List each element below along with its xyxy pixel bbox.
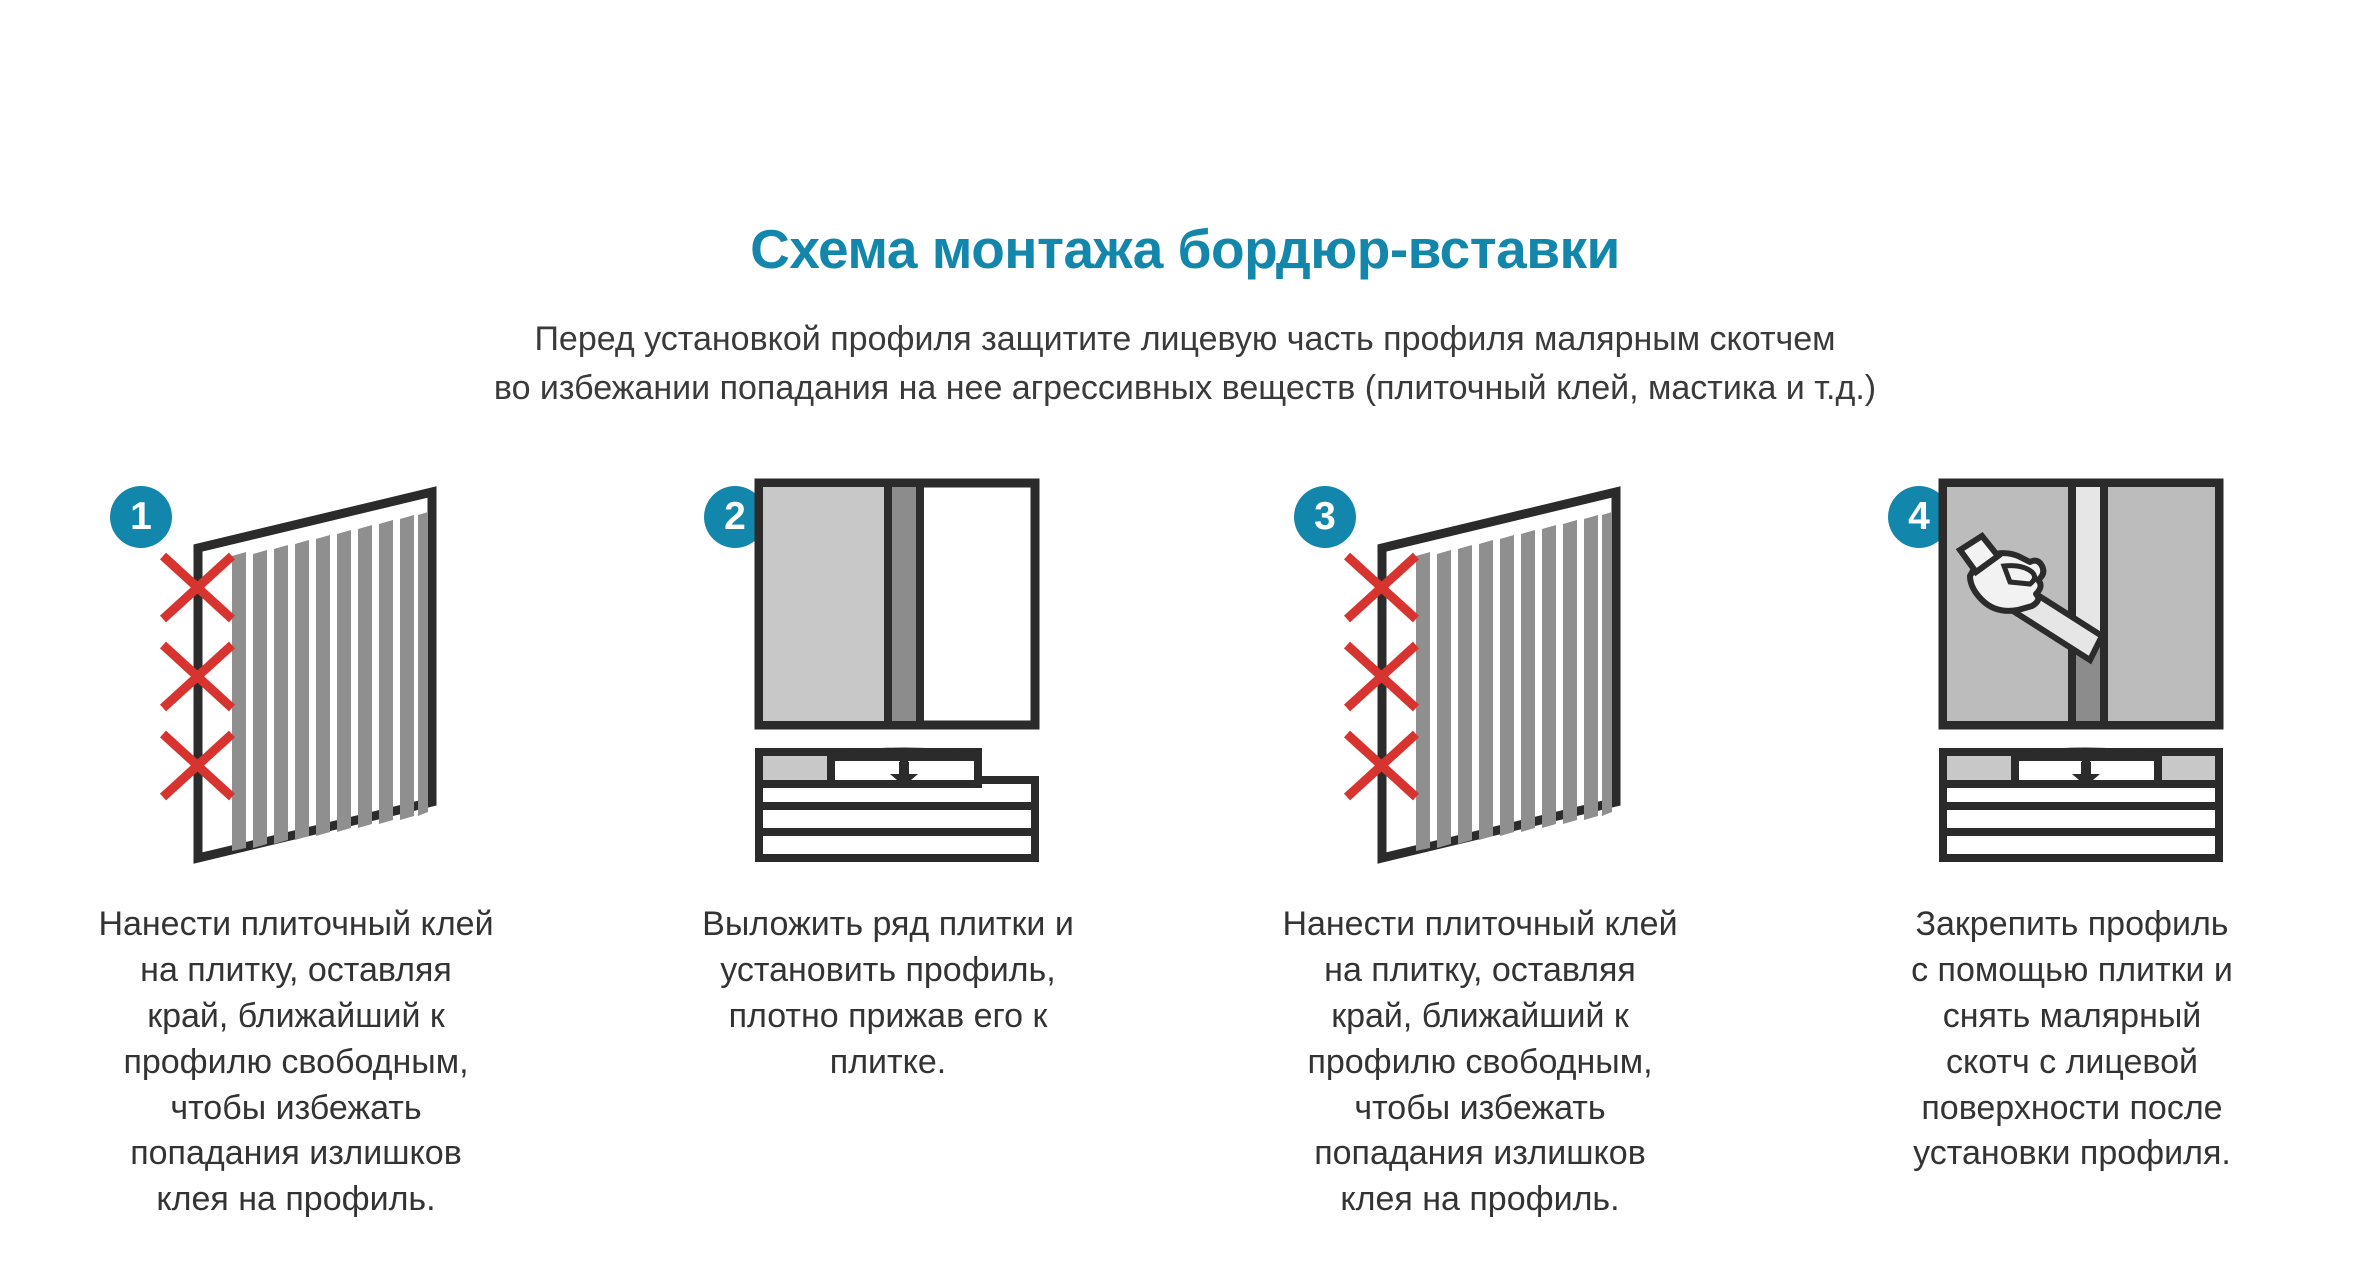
step-3: 3: [1184, 470, 1776, 1223]
caption-line: установить профиль,: [653, 948, 1123, 994]
caption-line: чтобы избежать: [1245, 1086, 1715, 1132]
steps-row: 1: [0, 470, 2370, 1223]
page-subtitle: Перед установкой профиля защитите лицеву…: [305, 277, 2065, 414]
caption-line: попадания излишков: [61, 1131, 531, 1177]
step-3-illustration-area: 3: [1184, 470, 1776, 890]
step-4-illustration-area: 4: [1776, 470, 2368, 890]
caption-line: поверхности после: [1847, 1086, 2297, 1132]
caption-line: попадания излишков: [1245, 1131, 1715, 1177]
step-2: 2: [592, 470, 1184, 1086]
subtitle-line-1: Перед установкой профиля защитите лицеву…: [305, 315, 2065, 364]
caption-line: установки профиля.: [1847, 1131, 2297, 1177]
step-1: 1: [0, 470, 592, 1223]
page-title: Схема монтажа бордюр-вставки: [0, 0, 2370, 277]
caption-line: на плитку, оставляя: [61, 948, 531, 994]
hand-peeling-tape-illustration: [1926, 470, 2256, 870]
step-1-caption: Нанести плиточный клей на плитку, оставл…: [61, 902, 531, 1223]
installation-scheme-page: Схема монтажа бордюр-вставки Перед устан…: [0, 0, 2370, 1265]
step-1-illustration-area: 1: [0, 470, 592, 890]
tile-row-profile-illustration: [742, 470, 1072, 870]
caption-line: чтобы избежать: [61, 1086, 531, 1132]
caption-line: с помощью плитки и: [1847, 948, 2297, 994]
caption-line: профилю свободным,: [61, 1040, 531, 1086]
step-3-caption: Нанести плиточный клей на плитку, оставл…: [1245, 902, 1715, 1223]
caption-line: Нанести плиточный клей: [1245, 902, 1715, 948]
caption-line: Нанести плиточный клей: [61, 902, 531, 948]
step-2-illustration-area: 2: [592, 470, 1184, 890]
caption-line: Закрепить профиль: [1847, 902, 2297, 948]
tile-adhesive-illustration: [1334, 470, 1664, 870]
caption-line: плотно прижав его к: [653, 994, 1123, 1040]
caption-line: край, ближайший к: [61, 994, 531, 1040]
step-2-caption: Выложить ряд плитки и установить профиль…: [653, 902, 1123, 1086]
tile-adhesive-illustration: [150, 470, 480, 870]
caption-line: снять малярный: [1847, 994, 2297, 1040]
caption-line: Выложить ряд плитки и: [653, 902, 1123, 948]
caption-line: на плитку, оставляя: [1245, 948, 1715, 994]
subtitle-line-2: во избежании попадания на нее агрессивны…: [305, 364, 2065, 413]
caption-line: плитке.: [653, 1040, 1123, 1086]
caption-line: край, ближайший к: [1245, 994, 1715, 1040]
caption-line: профилю свободным,: [1245, 1040, 1715, 1086]
caption-line: клея на профиль.: [61, 1177, 531, 1223]
caption-line: скотч с лицевой: [1847, 1040, 2297, 1086]
step-4-caption: Закрепить профиль с помощью плитки и сня…: [1847, 902, 2297, 1177]
caption-line: клея на профиль.: [1245, 1177, 1715, 1223]
step-4: 4: [1776, 470, 2368, 1177]
header: Схема монтажа бордюр-вставки Перед устан…: [0, 0, 2370, 414]
